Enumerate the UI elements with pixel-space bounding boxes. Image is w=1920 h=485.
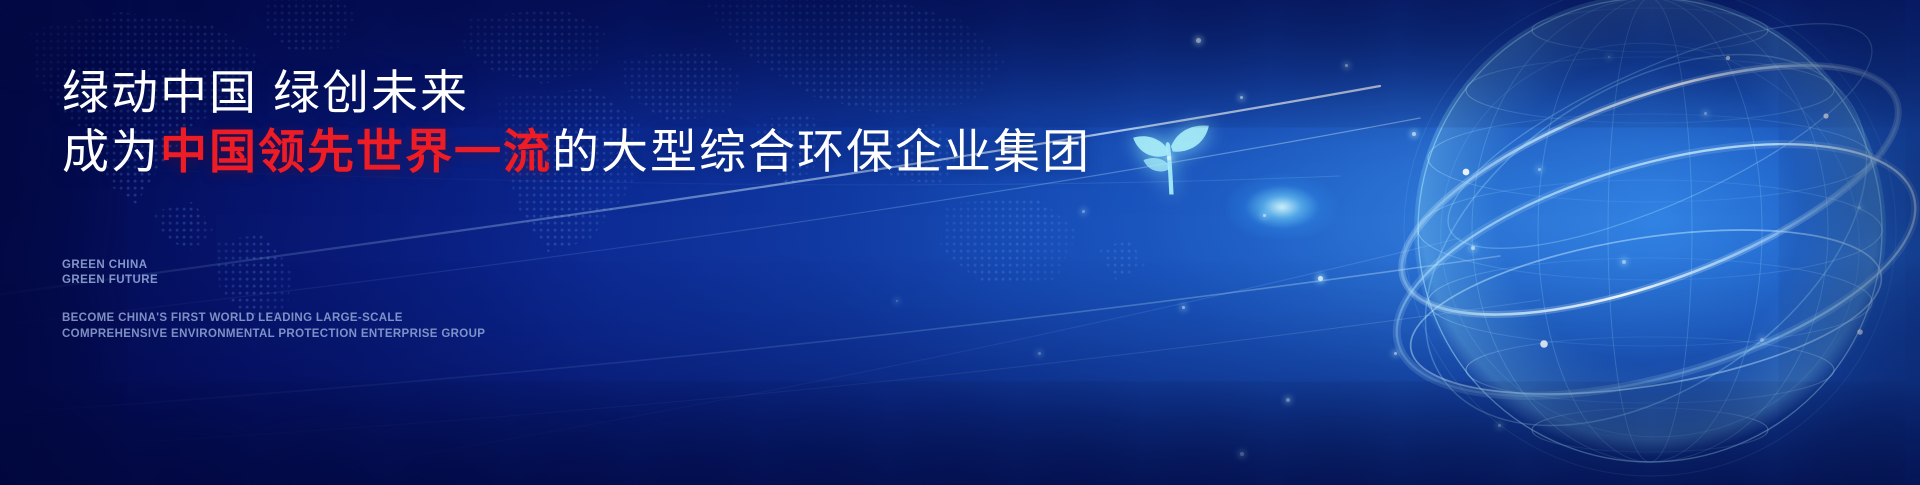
subtitle-english-line-2: GREEN FUTURE [62, 273, 158, 288]
subtitle-english: GREEN CHINA GREEN FUTURE [62, 258, 158, 288]
headline-line-2: 成为中国领先世界一流的大型综合环保企业集团 [62, 123, 1062, 180]
headline-highlight: 中国领先世界一流 [160, 125, 552, 178]
headline-block: 绿动中国 绿创未来 成为中国领先世界一流的大型综合环保企业集团 [62, 64, 1062, 181]
subtitle-english-line-1: GREEN CHINA [62, 258, 158, 273]
headline-prefix: 成为 [62, 125, 160, 178]
tagline-english-line-1: BECOME CHINA'S FIRST WORLD LEADING LARGE… [62, 311, 485, 327]
tagline-english: BECOME CHINA'S FIRST WORLD LEADING LARGE… [62, 311, 485, 343]
tagline-english-line-2: COMPREHENSIVE ENVIRONMENTAL PROTECTION E… [62, 327, 485, 343]
headline-suffix: 的大型综合环保企业集团 [552, 125, 1091, 178]
headline-line-1: 绿动中国 绿创未来 [62, 64, 1062, 121]
hero-banner: 绿动中国 绿创未来 成为中国领先世界一流的大型综合环保企业集团 GREEN CH… [0, 0, 1920, 485]
